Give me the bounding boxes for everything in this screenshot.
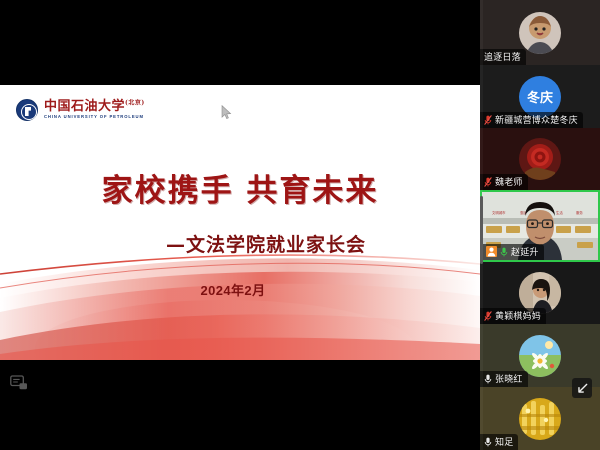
mic-on-icon: [500, 247, 508, 257]
participant-name: 赵延升: [511, 245, 539, 258]
university-name-cn: 中国石油大学(北京): [44, 100, 145, 113]
slide-subtitle: —文法学院就业家长会: [0, 230, 480, 257]
participant-tile[interactable]: 追逐日落: [480, 0, 600, 65]
campus-suffix: (北京): [125, 100, 145, 107]
host-badge-icon: [486, 246, 497, 257]
participant-filmstrip[interactable]: 追逐日落 冬庆 新疆城营博众楚冬庆: [480, 0, 600, 450]
participant-namebar: 新疆城营博众楚冬庆: [480, 112, 583, 128]
collapse-panel-icon: [576, 382, 589, 395]
mic-muted-icon: [484, 311, 492, 321]
participant-scrollbar[interactable]: [480, 196, 483, 264]
avatar: [519, 12, 561, 54]
participant-namebar: 知足: [480, 434, 518, 450]
presentation-slide: 中国石油大学(北京) CHINA UNIVERSITY OF PETROLEUM…: [0, 85, 480, 360]
presentation-icon[interactable]: [10, 375, 28, 391]
participant-name: 张晓红: [495, 372, 523, 385]
decorative-ribbon-graphic: [0, 240, 480, 360]
mic-off-icon: [484, 437, 492, 447]
video-conference-window: 中国石油大学(北京) CHINA UNIVERSITY OF PETROLEUM…: [0, 0, 600, 450]
participant-name: 知足: [495, 435, 513, 448]
participant-tile[interactable]: 魏老师: [480, 128, 600, 190]
participant-tile-active-speaker[interactable]: 文明城市 惠民 生活 服务: [480, 190, 600, 262]
mic-muted-icon: [484, 115, 492, 125]
participant-tile[interactable]: 黄颖棋妈妈: [480, 262, 600, 324]
mic-muted-icon: [484, 177, 492, 187]
slide-main-title: 家校携手 共育未来: [0, 165, 480, 210]
shared-screen-stage[interactable]: 中国石油大学(北京) CHINA UNIVERSITY OF PETROLEUM…: [0, 0, 480, 450]
avatar: [519, 398, 561, 440]
participant-namebar: 魏老师: [480, 174, 528, 190]
university-logo: 中国石油大学(北京) CHINA UNIVERSITY OF PETROLEUM: [16, 99, 145, 121]
participant-name: 新疆城营博众楚冬庆: [495, 113, 578, 126]
svg-text:文明城市: 文明城市: [492, 210, 506, 215]
svg-text:服务: 服务: [576, 210, 583, 215]
participant-name: 追逐日落: [484, 50, 521, 63]
participant-namebar: 黄颖棋妈妈: [480, 308, 546, 324]
university-name-en: CHINA UNIVERSITY OF PETROLEUM: [44, 115, 145, 119]
collapse-panel-button[interactable]: [572, 378, 592, 398]
mic-off-icon: [484, 374, 492, 384]
participant-tile[interactable]: 冬庆 新疆城营博众楚冬庆: [480, 65, 600, 128]
participant-namebar: 张晓红: [480, 371, 528, 387]
svg-text:生活: 生活: [556, 210, 563, 215]
participant-namebar: 追逐日落: [480, 49, 526, 65]
participant-name: 魏老师: [495, 175, 523, 188]
university-seal-icon: [16, 99, 38, 121]
participant-name: 黄颖棋妈妈: [495, 309, 541, 322]
participant-namebar: 赵延升: [482, 244, 544, 260]
slide-date: 2024年2月: [0, 280, 480, 299]
